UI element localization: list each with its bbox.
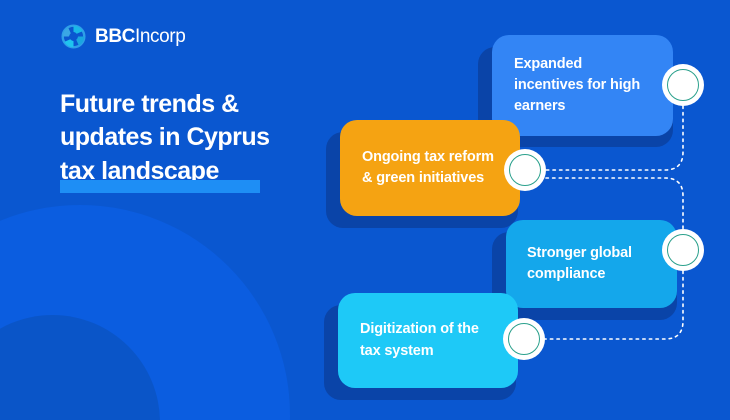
node-ring-icon: [509, 154, 541, 186]
background-decor-circle-inner: [0, 315, 160, 420]
card-digitization-tax-system[interactable]: Digitization of the tax system: [338, 293, 518, 388]
card-expanded-incentives[interactable]: Expanded incentives for high earners: [492, 35, 673, 136]
card-label-ongoing-tax-reform: Ongoing tax reform & green initiatives: [362, 147, 498, 189]
card-label-expanded-incentives: Expanded incentives for high earners: [514, 54, 651, 117]
node-ring-icon: [508, 323, 540, 355]
page-title-underline: [60, 180, 260, 193]
card-ongoing-tax-reform[interactable]: Ongoing tax reform & green initiatives: [340, 120, 520, 216]
node-ring-icon: [667, 234, 699, 266]
card-stronger-global-compliance[interactable]: Stronger global compliance: [506, 220, 677, 308]
background-decor-circle-outer: [0, 205, 290, 420]
brand-name-light: Incorp: [135, 26, 185, 47]
node-ongoing-tax-reform[interactable]: [504, 149, 546, 191]
page-title-line-2: updates in Cyprus: [60, 121, 310, 154]
card-label-digitization-tax-system: Digitization of the tax system: [360, 319, 496, 361]
page-title-line-1: Future trends &: [60, 88, 310, 121]
brand-name-bold: BBC: [95, 26, 135, 47]
page-title: Future trends & updates in Cyprus tax la…: [60, 88, 310, 188]
node-ring-icon: [667, 69, 699, 101]
node-stronger-global-compliance[interactable]: [662, 229, 704, 271]
brand-name: BBCIncorp: [95, 27, 185, 46]
circular-swoosh-icon: [60, 23, 87, 50]
brand-logo: BBCIncorp: [60, 22, 185, 50]
infographic-canvas: BBCIncorp Future trends & updates in Cyp…: [0, 0, 730, 420]
card-label-stronger-global-compliance: Stronger global compliance: [527, 243, 656, 285]
node-expanded-incentives[interactable]: [662, 64, 704, 106]
node-digitization-tax-system[interactable]: [503, 318, 545, 360]
